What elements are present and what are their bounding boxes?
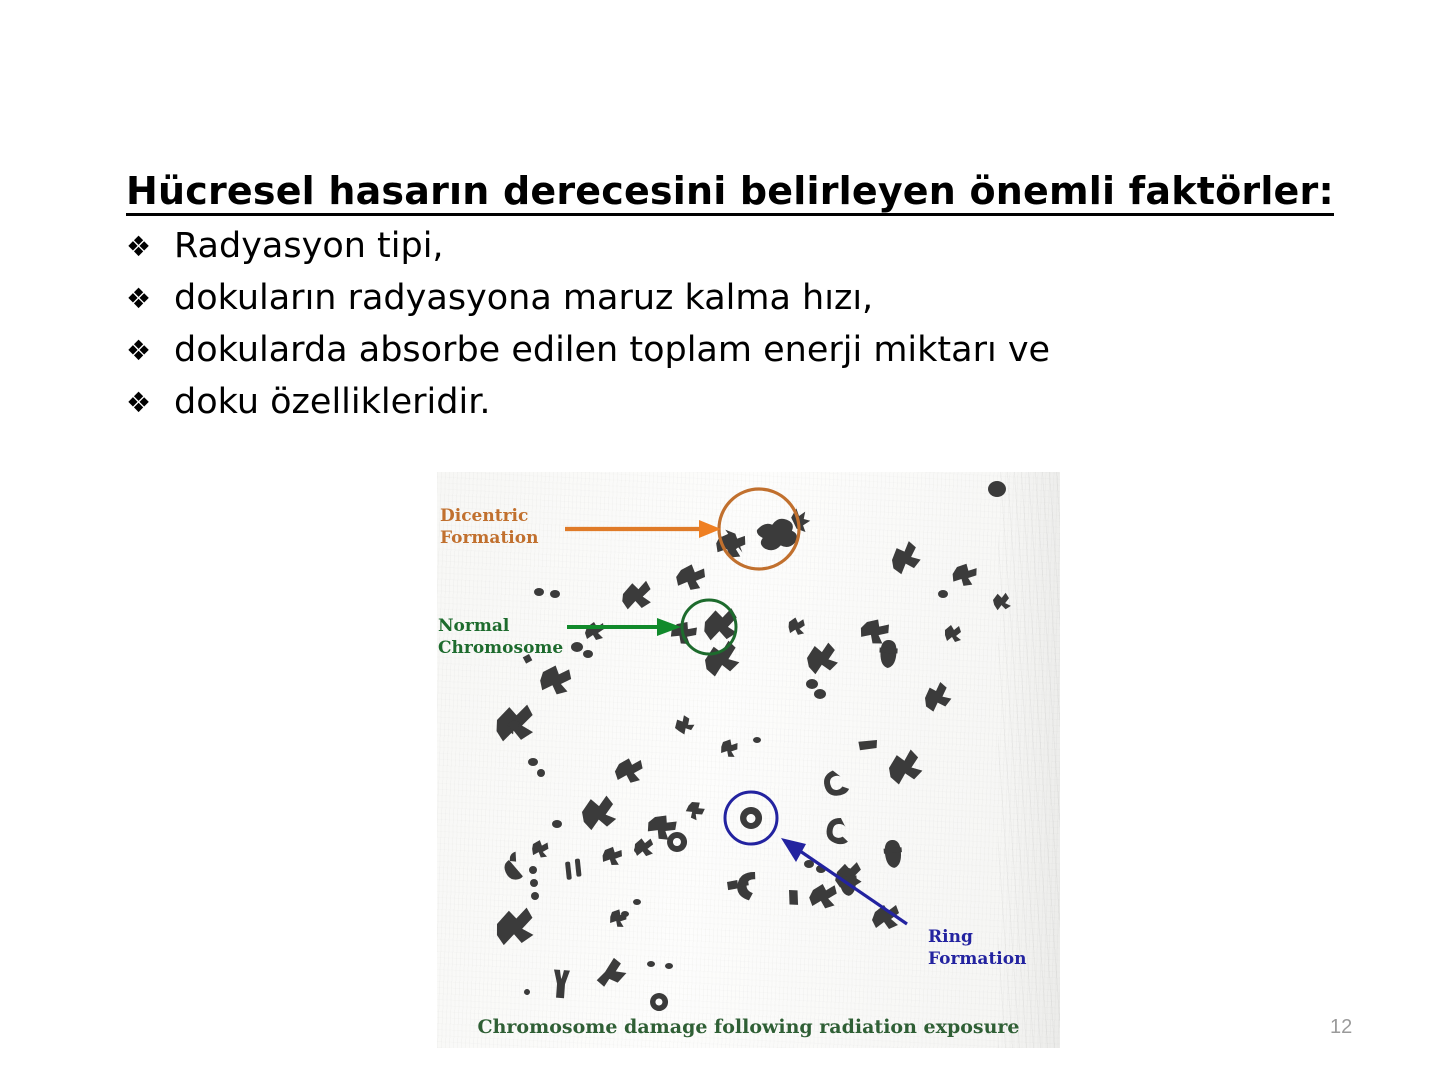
list-item: ❖ dokularda absorbe edilen toplam enerji… <box>126 333 1306 368</box>
page-title: Hücresel hasarın derecesini belirleyen ö… <box>126 172 1334 216</box>
bullet-list: ❖ Radyasyon tipi, ❖ dokuların radyasyona… <box>126 229 1306 420</box>
annotation-label-ring-formation: Ring Formation <box>928 927 1026 971</box>
list-item-label: doku özellikleridir. <box>174 385 491 420</box>
list-item-label: dokularda absorbe edilen toplam enerji m… <box>174 333 1050 368</box>
list-item-label: Radyasyon tipi, <box>174 229 444 264</box>
slide-content: Hücresel hasarın derecesini belirleyen ö… <box>126 172 1306 437</box>
page-number: 12 <box>1330 1016 1352 1039</box>
chromosome-figure: Dicentric Formation Normal Chromosome Ri… <box>437 472 1060 1048</box>
list-item-label: dokuların radyasyona maruz kalma hızı, <box>174 281 873 316</box>
annotation-label-normal-chromosome: Normal Chromosome <box>438 616 563 660</box>
diamond-bullet-icon: ❖ <box>126 333 174 368</box>
figure-caption: Chromosome damage following radiation ex… <box>437 1016 1060 1038</box>
diamond-bullet-icon: ❖ <box>126 229 174 264</box>
diamond-bullet-icon: ❖ <box>126 281 174 316</box>
list-item: ❖ Radyasyon tipi, <box>126 229 1306 264</box>
list-item: ❖ doku özellikleridir. <box>126 385 1306 420</box>
list-item: ❖ dokuların radyasyona maruz kalma hızı, <box>126 281 1306 316</box>
annotation-label-dicentric: Dicentric Formation <box>440 506 538 550</box>
diamond-bullet-icon: ❖ <box>126 385 174 420</box>
